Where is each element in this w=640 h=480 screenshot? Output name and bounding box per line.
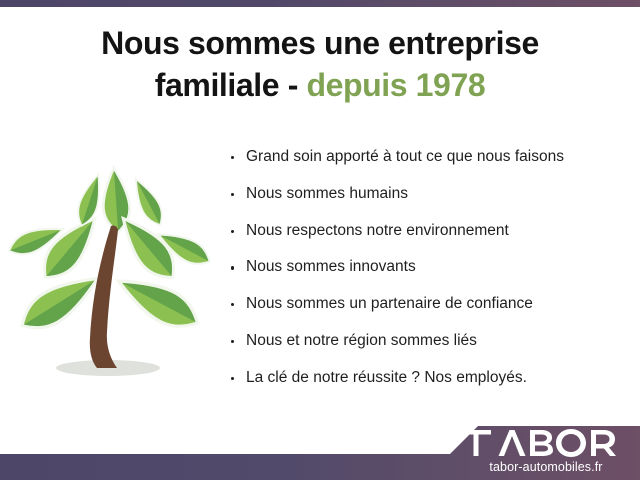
bullet-icon (231, 266, 234, 269)
page-title-line-2-main: familiale - (155, 67, 307, 103)
brand-logo[interactable]: TABOR tabor-autom (460, 428, 632, 474)
bullet-icon (231, 230, 234, 233)
list-item: Nous et notre région sommes liés (228, 332, 628, 350)
list-item: Grand soin apporté à tout ce que nous fa… (228, 148, 628, 166)
list-item-label: Nous et notre région sommes liés (246, 332, 477, 349)
list-item-label: Nous respectons notre environnement (246, 222, 509, 239)
brand-tagline: tabor-automobiles.fr (460, 460, 632, 474)
list-item: Nous respectons notre environnement (228, 222, 628, 240)
list-item-label: Nous sommes innovants (246, 258, 416, 275)
list-item-label: Grand soin apporté à tout ce que nous fa… (246, 148, 564, 165)
page-title: Nous sommes une entreprise familiale - d… (0, 22, 640, 106)
list-item: Nous sommes humains (228, 185, 628, 203)
bullet-icon (231, 156, 234, 159)
list-item-label: La clé de notre réussite ? Nos employés. (246, 369, 527, 386)
list-item: Nous sommes innovants (228, 258, 628, 276)
list-item-label: Nous sommes humains (246, 185, 408, 202)
page-title-line-2: familiale - depuis 1978 (24, 64, 616, 106)
list-item: Nous sommes un partenaire de confiance (228, 295, 628, 313)
tabor-wordmark: TABOR (460, 428, 632, 458)
bullet-icon (231, 340, 234, 343)
tree-trunk (90, 225, 118, 368)
slide-root: Nous sommes une entreprise familiale - d… (0, 0, 640, 480)
bullet-icon (231, 377, 234, 380)
tree-illustration: Arbre stylisé (8, 152, 218, 390)
bullet-icon (231, 303, 234, 306)
benefits-list: Grand soin apporté à tout ce que nous fa… (228, 148, 628, 387)
page-title-accent: depuis 1978 (306, 67, 485, 103)
page-title-line-1: Nous sommes une entreprise (24, 22, 616, 64)
list-item: La clé de notre réussite ? Nos employés. (228, 369, 628, 387)
list-item-label: Nous sommes un partenaire de confiance (246, 295, 533, 312)
bullet-icon (231, 193, 234, 196)
footer-band: TABOR tabor-autom (0, 412, 640, 480)
top-accent-strip (0, 0, 640, 7)
